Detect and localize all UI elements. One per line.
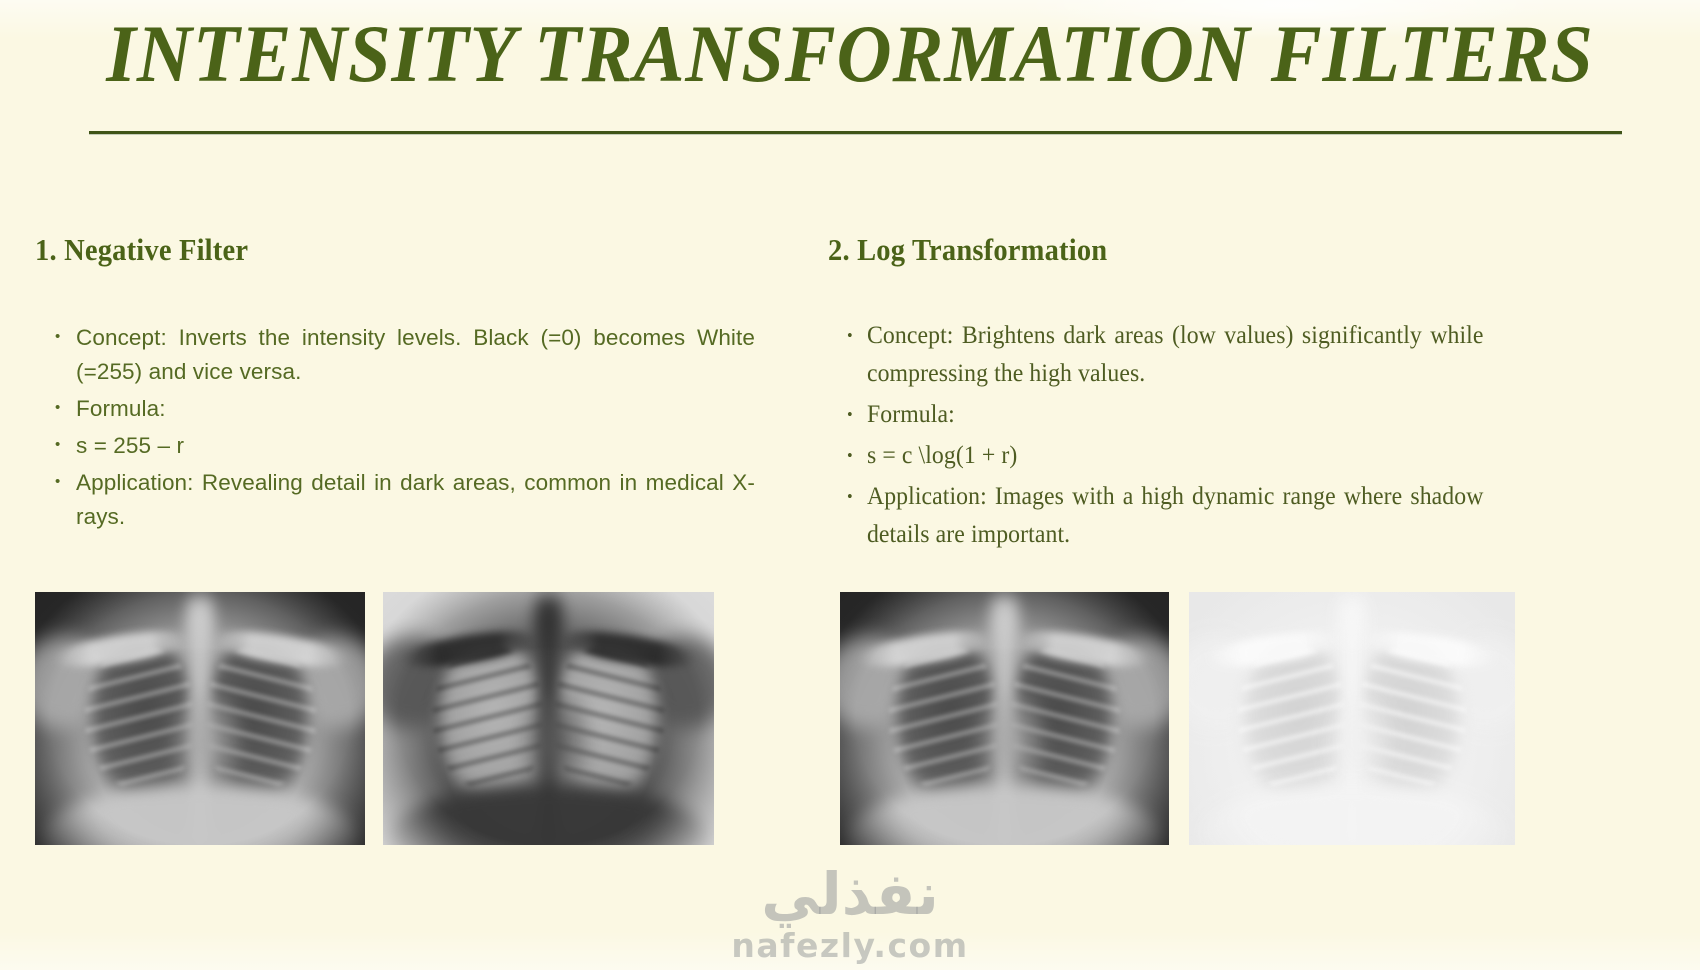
bullet-text: s = c \log(1 + r) bbox=[867, 442, 1017, 469]
watermark-arabic: نفذلي bbox=[731, 865, 968, 923]
xray-image-negative-result bbox=[383, 592, 714, 845]
xray-anatomy bbox=[840, 592, 1169, 845]
xray-anatomy bbox=[35, 592, 365, 845]
slide-canvas: INTENSITY TRANSFORMATION FILTERS 1. Nega… bbox=[0, 0, 1700, 970]
column-negative-filter: 1. Negative Filter Concept: Inverts the … bbox=[35, 232, 755, 537]
watermark: نفذلي nafezly.com bbox=[731, 865, 968, 962]
list-item: s = 255 – r bbox=[35, 429, 755, 463]
xray-layer-vignette bbox=[840, 592, 1169, 845]
bullet-text: Concept: Brightens dark areas (low value… bbox=[867, 322, 1484, 387]
xray-image-negative-original bbox=[35, 592, 365, 845]
column-heading-log: 2. Log Transformation bbox=[828, 232, 1463, 268]
watermark-url: nafezly.com bbox=[731, 929, 968, 962]
bullet-text: s = 255 – r bbox=[76, 429, 755, 463]
xray-image-log-original bbox=[840, 592, 1169, 845]
list-item: Concept: Inverts the intensity levels. B… bbox=[35, 321, 755, 389]
bullet-text: Application: Images with a high dynamic … bbox=[867, 483, 1484, 548]
list-item: s = c \log(1 + r) bbox=[828, 437, 1484, 475]
bullet-text: Formula: bbox=[867, 401, 955, 428]
list-item: Formula: bbox=[828, 396, 1484, 434]
xray-image-log-result bbox=[1189, 592, 1515, 845]
bullet-text: Formula: bbox=[76, 392, 755, 426]
xray-layer-vignette bbox=[35, 592, 365, 845]
xray-layer-vignette bbox=[383, 592, 714, 845]
title-divider bbox=[89, 131, 1622, 135]
bullet-text: Concept: Inverts the intensity levels. B… bbox=[76, 321, 755, 389]
bullet-list-log: Concept: Brightens dark areas (low value… bbox=[828, 317, 1518, 554]
xray-anatomy bbox=[1189, 592, 1515, 845]
page-title: INTENSITY TRANSFORMATION FILTERS bbox=[60, 8, 1641, 100]
list-item: Concept: Brightens dark areas (low value… bbox=[828, 317, 1484, 393]
bullet-list-negative: Concept: Inverts the intensity levels. B… bbox=[35, 321, 755, 534]
column-heading-negative: 1. Negative Filter bbox=[35, 232, 697, 268]
xray-layer-vignette bbox=[1189, 592, 1515, 845]
page-title-wrap: INTENSITY TRANSFORMATION FILTERS bbox=[0, 8, 1700, 100]
list-item: Application: Images with a high dynamic … bbox=[828, 478, 1484, 554]
list-item: Application: Revealing detail in dark ar… bbox=[35, 466, 755, 534]
xray-anatomy bbox=[383, 592, 714, 845]
list-item: Formula: bbox=[35, 392, 755, 426]
bullet-text: Application: Revealing detail in dark ar… bbox=[76, 466, 755, 534]
column-log-transformation: 2. Log Transformation Concept: Brightens… bbox=[828, 232, 1518, 557]
